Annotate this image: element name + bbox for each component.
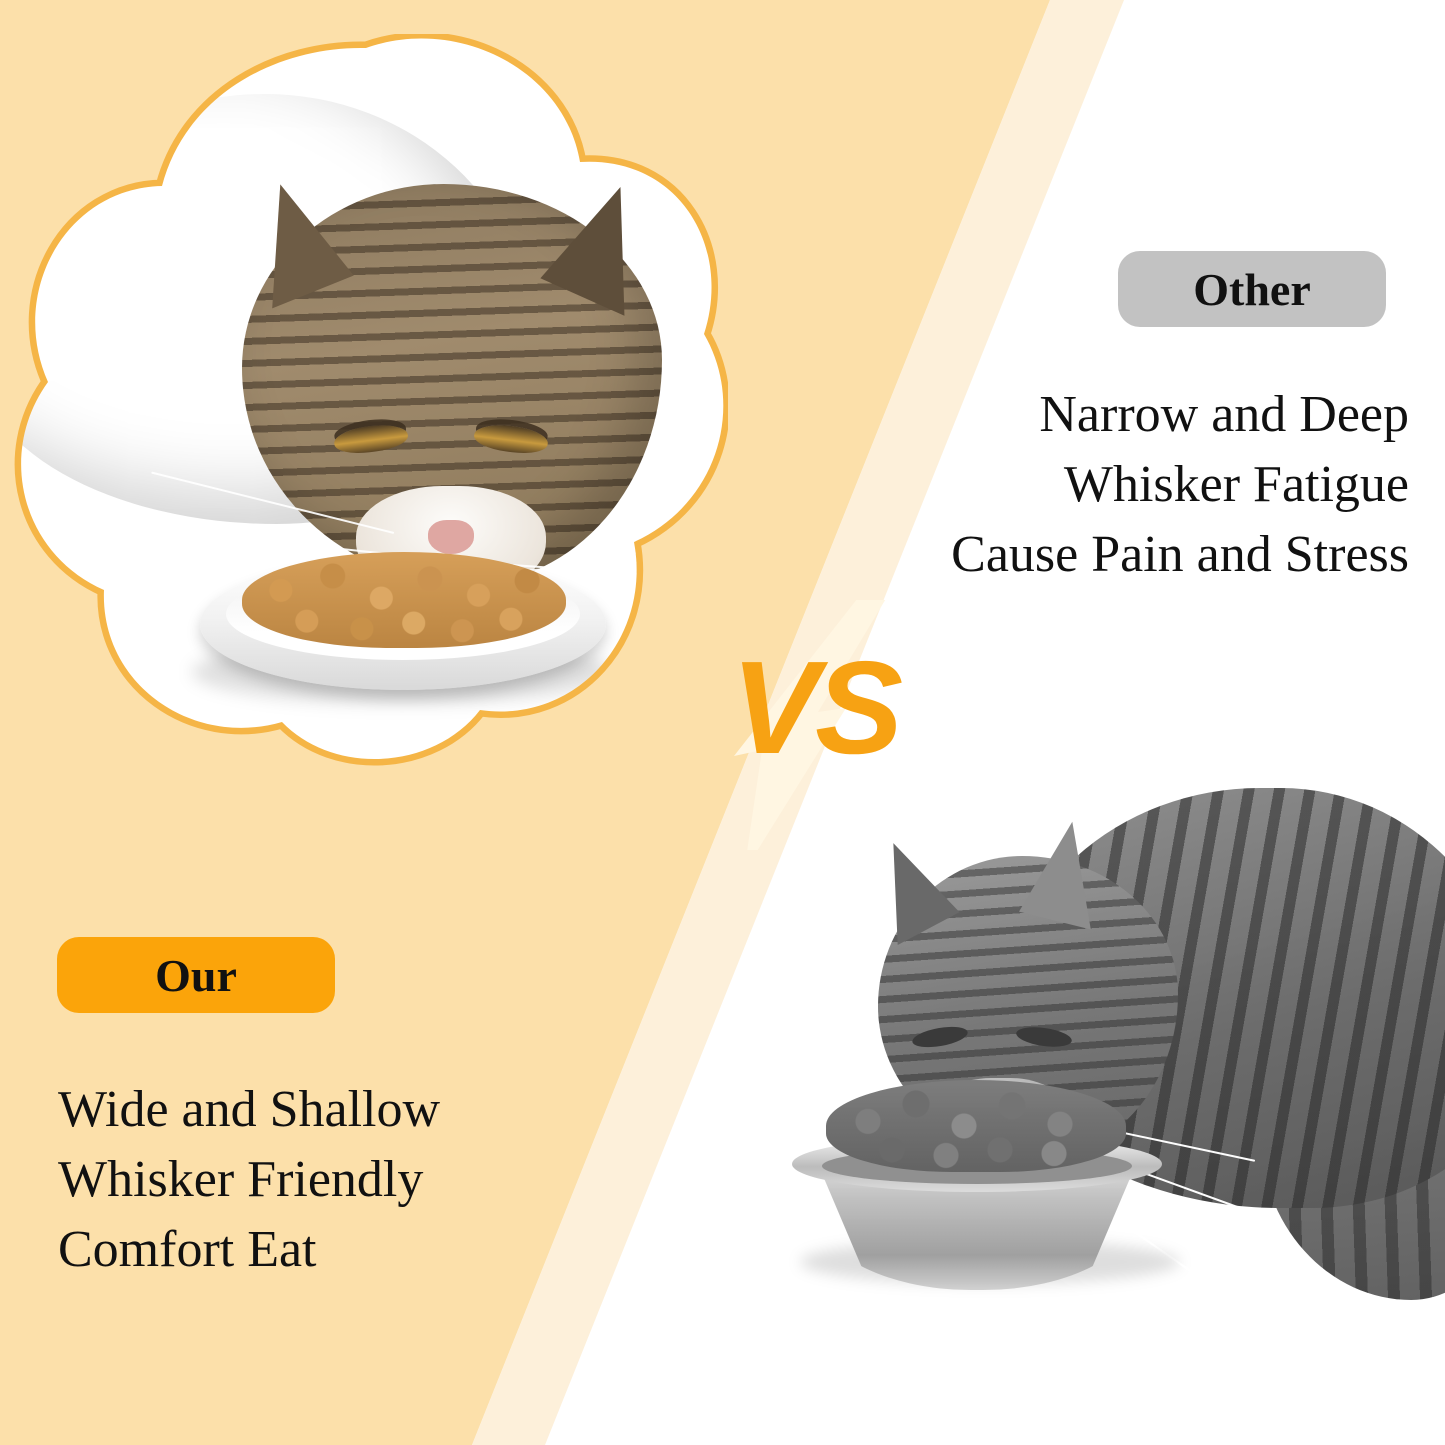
our-feature-item: Whisker Friendly [58, 1145, 440, 1215]
other-feature-item: Cause Pain and Stress [951, 520, 1409, 590]
kibble-pile [242, 552, 566, 648]
kibble-pile [826, 1080, 1126, 1172]
other-feature-item: Whisker Fatigue [951, 450, 1409, 520]
vs-label: VS [700, 642, 930, 774]
our-feature-list: Wide and Shallow Whisker Friendly Comfor… [58, 1075, 440, 1286]
comparison-poster: VS Other Narrow and Deep Whisker Fatigue… [0, 0, 1445, 1445]
badge-other: Other [1118, 251, 1386, 327]
other-feature-item: Narrow and Deep [951, 380, 1409, 450]
our-feature-item: Wide and Shallow [58, 1075, 440, 1145]
other-cat-photo [700, 760, 1445, 1445]
vs-divider: VS [700, 600, 930, 850]
badge-our: Our [57, 937, 335, 1013]
our-photo-frame [4, 34, 728, 778]
cat-nose [428, 520, 474, 554]
our-feature-item: Comfort Eat [58, 1215, 440, 1285]
other-feature-list: Narrow and Deep Whisker Fatigue Cause Pa… [951, 380, 1409, 591]
